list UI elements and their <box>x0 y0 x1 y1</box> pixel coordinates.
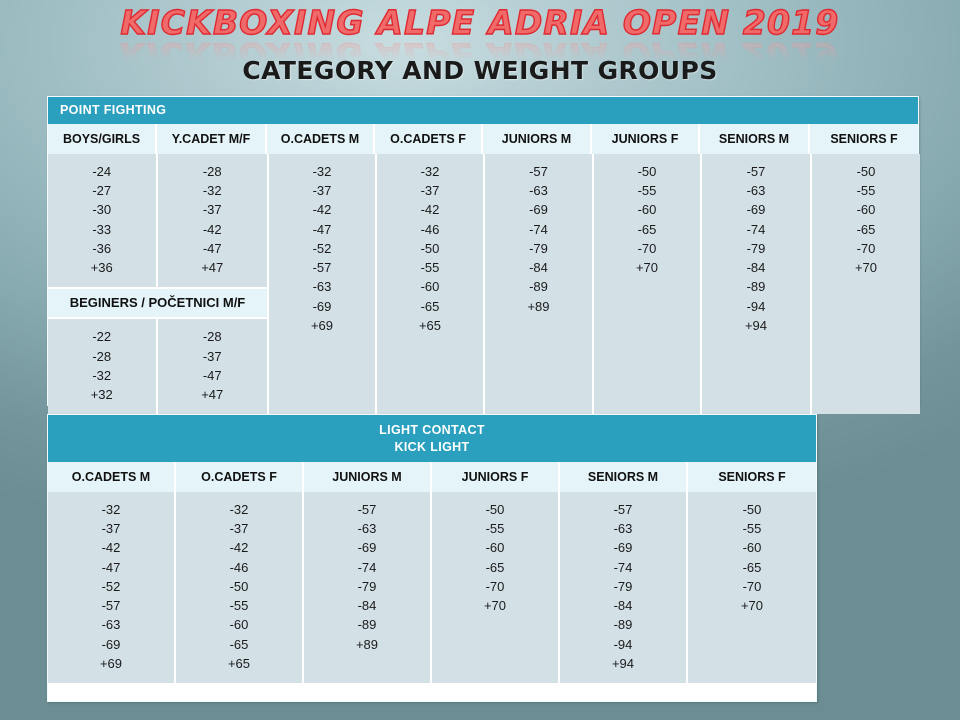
weight-value: -52 <box>269 239 375 258</box>
weight-value: -57 <box>702 162 810 181</box>
weight-value: -42 <box>269 200 375 219</box>
point-fighting-column-headers: BOYS/GIRLS Y.CADET M/F O.CADETS M O.CADE… <box>48 124 918 154</box>
weight-value: -47 <box>269 220 375 239</box>
cell-o-cadets-m: -32-37-42-47-52-57-63-69+69 <box>269 154 377 414</box>
weight-value: -63 <box>48 615 174 634</box>
weight-value: -79 <box>560 577 686 596</box>
weight-value: -60 <box>432 538 558 557</box>
weight-value: -27 <box>48 181 156 200</box>
weight-value: +70 <box>432 596 558 615</box>
weight-value: -42 <box>158 220 268 239</box>
weight-value: -65 <box>176 635 302 654</box>
weight-value: +65 <box>377 316 483 335</box>
weight-value: -74 <box>485 220 592 239</box>
weight-value: -50 <box>688 500 816 519</box>
weight-value: -89 <box>702 277 810 296</box>
weight-value: +47 <box>158 258 268 277</box>
lc-column-header-juniors-m: JUNIORS M <box>304 462 432 492</box>
weight-value: -24 <box>48 162 156 181</box>
weight-value: -28 <box>158 162 268 181</box>
weight-value: -63 <box>702 181 810 200</box>
weight-value: -89 <box>560 615 686 634</box>
weight-value: -42 <box>176 538 302 557</box>
cell-y-cadet: -28-32-37-42-47+47 <box>158 154 268 287</box>
weight-value: +70 <box>688 596 816 615</box>
weight-value: -50 <box>377 239 483 258</box>
weight-value: -63 <box>269 277 375 296</box>
weight-value: -60 <box>377 277 483 296</box>
weight-value: -55 <box>812 181 920 200</box>
weight-value: -84 <box>485 258 592 277</box>
weight-value: -69 <box>304 538 430 557</box>
light-contact-banner-line1: LIGHT CONTACT <box>48 422 816 439</box>
weight-value: -50 <box>432 500 558 519</box>
weight-value: -60 <box>812 200 920 219</box>
cell-seniors-f: -50-55-60-65-70+70 <box>812 154 920 414</box>
lc-cell-seniors-m: -57-63-69-74-79-84-89-94+94 <box>560 492 688 683</box>
weight-value: -84 <box>560 596 686 615</box>
beginners-pair-row: -22-28-32+32 -28-37-47+47 <box>48 319 267 414</box>
point-fighting-top-pair-row: -24-27-30-33-36+36 -28-32-37-42-47+47 <box>48 154 267 287</box>
weight-value: +65 <box>176 654 302 673</box>
weight-value: -94 <box>560 635 686 654</box>
weight-value: -33 <box>48 220 156 239</box>
weight-value: -79 <box>485 239 592 258</box>
weight-value: -74 <box>560 558 686 577</box>
weight-value: +69 <box>48 654 174 673</box>
weight-value: -69 <box>702 200 810 219</box>
weight-value: -37 <box>158 347 268 366</box>
weight-value: -52 <box>48 577 174 596</box>
beginners-band-label: BEGINERS / POČETNICI M/F <box>48 287 267 319</box>
page-title: KICKBOXING ALPE ADRIA OPEN 2019 <box>0 6 960 40</box>
point-fighting-left-group: -24-27-30-33-36+36 -28-32-37-42-47+47 BE… <box>48 154 269 414</box>
weight-value: -32 <box>269 162 375 181</box>
weight-value: -32 <box>48 500 174 519</box>
column-header-juniors-f: JUNIORS F <box>592 124 700 154</box>
weight-value: -28 <box>48 347 156 366</box>
weight-value: -65 <box>594 220 700 239</box>
weight-value: -70 <box>594 239 700 258</box>
weight-value: -42 <box>377 200 483 219</box>
lc-column-header-seniors-m: SENIORS M <box>560 462 688 492</box>
light-contact-body: -32-37-42-47-52-57-63-69+69 -32-37-42-46… <box>48 492 816 683</box>
weight-value: -32 <box>176 500 302 519</box>
lc-cell-juniors-f: -50-55-60-65-70+70 <box>432 492 560 683</box>
lc-cell-juniors-m: -57-63-69-74-79-84-89+89 <box>304 492 432 683</box>
weight-value: +36 <box>48 258 156 277</box>
weight-value: -47 <box>158 239 268 258</box>
weight-value: -55 <box>594 181 700 200</box>
page-subtitle: CATEGORY AND WEIGHT GROUPS <box>0 56 960 85</box>
light-contact-table: LIGHT CONTACT KICK LIGHT O.CADETS M O.CA… <box>47 414 817 702</box>
weight-value: -70 <box>812 239 920 258</box>
column-header-boys-girls: BOYS/GIRLS <box>48 124 157 154</box>
weight-value: -74 <box>304 558 430 577</box>
weight-value: -55 <box>176 596 302 615</box>
column-header-juniors-m: JUNIORS M <box>483 124 592 154</box>
weight-value: -28 <box>158 327 268 346</box>
weight-value: -69 <box>485 200 592 219</box>
weight-value: -63 <box>485 181 592 200</box>
weight-value: -65 <box>432 558 558 577</box>
weight-value: -79 <box>304 577 430 596</box>
weight-value: +70 <box>812 258 920 277</box>
column-header-y-cadet: Y.CADET M/F <box>157 124 267 154</box>
point-fighting-table: POINT FIGHTING BOYS/GIRLS Y.CADET M/F O.… <box>47 96 919 406</box>
slide-canvas: KICKBOXING ALPE ADRIA OPEN 2019 KICKBOXI… <box>0 0 960 720</box>
lc-column-header-o-cadets-m: O.CADETS M <box>48 462 176 492</box>
weight-value: -46 <box>377 220 483 239</box>
weight-value: -30 <box>48 200 156 219</box>
weight-value: -84 <box>702 258 810 277</box>
light-contact-column-headers: O.CADETS M O.CADETS F JUNIORS M JUNIORS … <box>48 462 816 492</box>
weight-value: -36 <box>48 239 156 258</box>
weight-value: -74 <box>702 220 810 239</box>
weight-value: -60 <box>176 615 302 634</box>
weight-value: -65 <box>377 297 483 316</box>
weight-value: +89 <box>485 297 592 316</box>
column-header-o-cadets-f: O.CADETS F <box>375 124 483 154</box>
weight-value: -50 <box>812 162 920 181</box>
weight-value: -57 <box>304 500 430 519</box>
weight-value: -60 <box>594 200 700 219</box>
weight-value: -50 <box>594 162 700 181</box>
lc-column-header-seniors-f: SENIORS F <box>688 462 816 492</box>
weight-value: -37 <box>48 519 174 538</box>
weight-value: -65 <box>688 558 816 577</box>
weight-value: +94 <box>560 654 686 673</box>
weight-value: -84 <box>304 596 430 615</box>
weight-value: -47 <box>48 558 174 577</box>
point-fighting-body: -24-27-30-33-36+36 -28-32-37-42-47+47 BE… <box>48 154 918 414</box>
weight-value: +94 <box>702 316 810 335</box>
weight-value: -55 <box>688 519 816 538</box>
cell-beginners-y-cadet: -28-37-47+47 <box>158 319 268 414</box>
lc-column-header-o-cadets-f: O.CADETS F <box>176 462 304 492</box>
weight-value: -47 <box>158 366 268 385</box>
light-contact-banner: LIGHT CONTACT KICK LIGHT <box>48 415 816 462</box>
weight-value: -65 <box>812 220 920 239</box>
cell-boys-girls: -24-27-30-33-36+36 <box>48 154 158 287</box>
lc-cell-o-cadets-f: -32-37-42-46-50-55-60-65+65 <box>176 492 304 683</box>
weight-value: +69 <box>269 316 375 335</box>
weight-value: +32 <box>48 385 156 404</box>
light-contact-banner-line2: KICK LIGHT <box>48 439 816 456</box>
weight-value: -69 <box>269 297 375 316</box>
weight-value: -79 <box>702 239 810 258</box>
weight-value: -57 <box>269 258 375 277</box>
weight-value: -37 <box>377 181 483 200</box>
weight-value: -89 <box>304 615 430 634</box>
point-fighting-right-group: -32-37-42-47-52-57-63-69+69 -32-37-42-46… <box>269 154 920 414</box>
weight-value: -37 <box>176 519 302 538</box>
weight-value: -69 <box>560 538 686 557</box>
weight-value: -70 <box>688 577 816 596</box>
weight-value: -22 <box>48 327 156 346</box>
weight-value: -70 <box>432 577 558 596</box>
lc-cell-o-cadets-m: -32-37-42-47-52-57-63-69+69 <box>48 492 176 683</box>
weight-value: -37 <box>158 200 268 219</box>
weight-value: -57 <box>48 596 174 615</box>
weight-value: -32 <box>377 162 483 181</box>
weight-value: -57 <box>485 162 592 181</box>
weight-value: -55 <box>432 519 558 538</box>
weight-value: -50 <box>176 577 302 596</box>
weight-value: +70 <box>594 258 700 277</box>
weight-value: -60 <box>688 538 816 557</box>
column-header-seniors-f: SENIORS F <box>810 124 918 154</box>
weight-value: -42 <box>48 538 174 557</box>
cell-beginners-boys-girls: -22-28-32+32 <box>48 319 158 414</box>
cell-seniors-m: -57-63-69-74-79-84-89-94+94 <box>702 154 812 414</box>
cell-juniors-m: -57-63-69-74-79-84-89+89 <box>485 154 594 414</box>
weight-value: -32 <box>158 181 268 200</box>
column-header-o-cadets-m: O.CADETS M <box>267 124 375 154</box>
weight-value: -89 <box>485 277 592 296</box>
weight-value: -32 <box>48 366 156 385</box>
point-fighting-banner: POINT FIGHTING <box>48 97 918 124</box>
weight-value: -94 <box>702 297 810 316</box>
weight-value: -63 <box>560 519 686 538</box>
weight-value: +47 <box>158 385 268 404</box>
lc-cell-seniors-f: -50-55-60-65-70+70 <box>688 492 816 683</box>
weight-value: +89 <box>304 635 430 654</box>
weight-value: -37 <box>269 181 375 200</box>
column-header-seniors-m: SENIORS M <box>700 124 810 154</box>
weight-value: -46 <box>176 558 302 577</box>
weight-value: -63 <box>304 519 430 538</box>
weight-value: -57 <box>560 500 686 519</box>
cell-juniors-f: -50-55-60-65-70+70 <box>594 154 702 414</box>
lc-column-header-juniors-f: JUNIORS F <box>432 462 560 492</box>
cell-o-cadets-f: -32-37-42-46-50-55-60-65+65 <box>377 154 485 414</box>
weight-value: -69 <box>48 635 174 654</box>
weight-value: -55 <box>377 258 483 277</box>
